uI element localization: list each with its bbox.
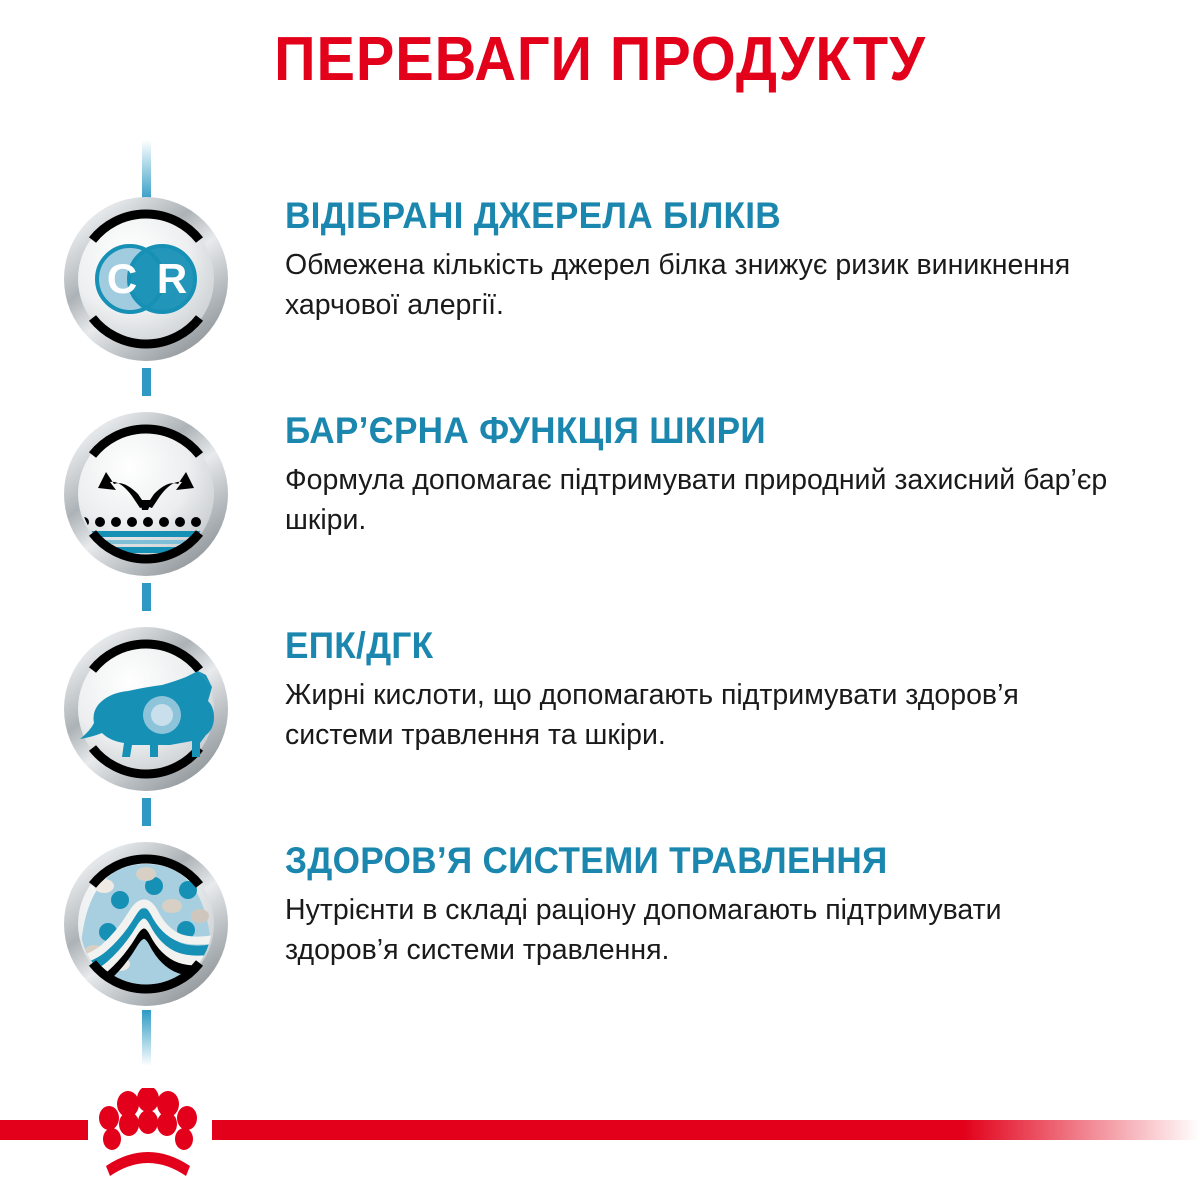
benefit-body-4: Нутрієнти в складі раціону допомагають п…	[285, 890, 1115, 970]
digestive-health-icon	[62, 840, 230, 1008]
cat-epa-dha-icon	[62, 625, 230, 793]
benefit-heading-4: ЗДОРОВ’Я СИСТЕМИ ТРАВЛЕННЯ	[285, 840, 1112, 882]
benefit-text-2: БАР’ЄРНА ФУНКЦІЯ ШКІРИ Формула допомагає…	[285, 410, 1155, 540]
benefit-heading-3: ЕПК/ДГК	[285, 625, 1112, 667]
page-title: ПЕРЕВАГИ ПРОДУКТУ	[42, 24, 1158, 95]
skin-barrier-icon	[62, 410, 230, 578]
benefit-heading-1: ВІДІБРАНІ ДЖЕРЕЛА БІЛКІВ	[285, 195, 1112, 237]
footer-brand-bar	[0, 1080, 1200, 1200]
product-benefits-page: ПЕРЕВАГИ ПРОДУКТУ	[0, 0, 1200, 1200]
brand-bar-right	[212, 1120, 1200, 1140]
svg-text:C: C	[107, 255, 137, 302]
benefit-row-4: ЗДОРОВ’Я СИСТЕМИ ТРАВЛЕННЯ Нутрієнти в с…	[0, 840, 1200, 1020]
brand-bar-left	[0, 1120, 88, 1140]
benefit-row-3: ЕПК/ДГК Жирні кислоти, що допомагають пі…	[0, 625, 1200, 805]
benefit-heading-2: БАР’ЄРНА ФУНКЦІЯ ШКІРИ	[285, 410, 1112, 452]
benefit-row-2: БАР’ЄРНА ФУНКЦІЯ ШКІРИ Формула допомагає…	[0, 410, 1200, 590]
royal-canin-crown-logo	[84, 1088, 212, 1180]
svg-text:R: R	[157, 255, 187, 302]
benefit-text-1: ВІДІБРАНІ ДЖЕРЕЛА БІЛКІВ Обмежена кількі…	[285, 195, 1155, 325]
benefit-body-3: Жирні кислоти, що допомагають підтримува…	[285, 675, 1115, 755]
connector-segment-top	[142, 140, 151, 202]
benefit-text-3: ЕПК/ДГК Жирні кислоти, що допомагають пі…	[285, 625, 1155, 755]
benefit-body-2: Формула допомагає підтримувати природний…	[285, 460, 1115, 540]
benefit-text-4: ЗДОРОВ’Я СИСТЕМИ ТРАВЛЕННЯ Нутрієнти в с…	[285, 840, 1155, 970]
benefit-row-1: C R ВІДІБРАНІ ДЖЕРЕЛА БІЛКІВ Обмежена кі…	[0, 195, 1200, 375]
selected-protein-sources-icon: C R	[62, 195, 230, 363]
benefit-body-1: Обмежена кількість джерел білка знижує р…	[285, 245, 1115, 325]
